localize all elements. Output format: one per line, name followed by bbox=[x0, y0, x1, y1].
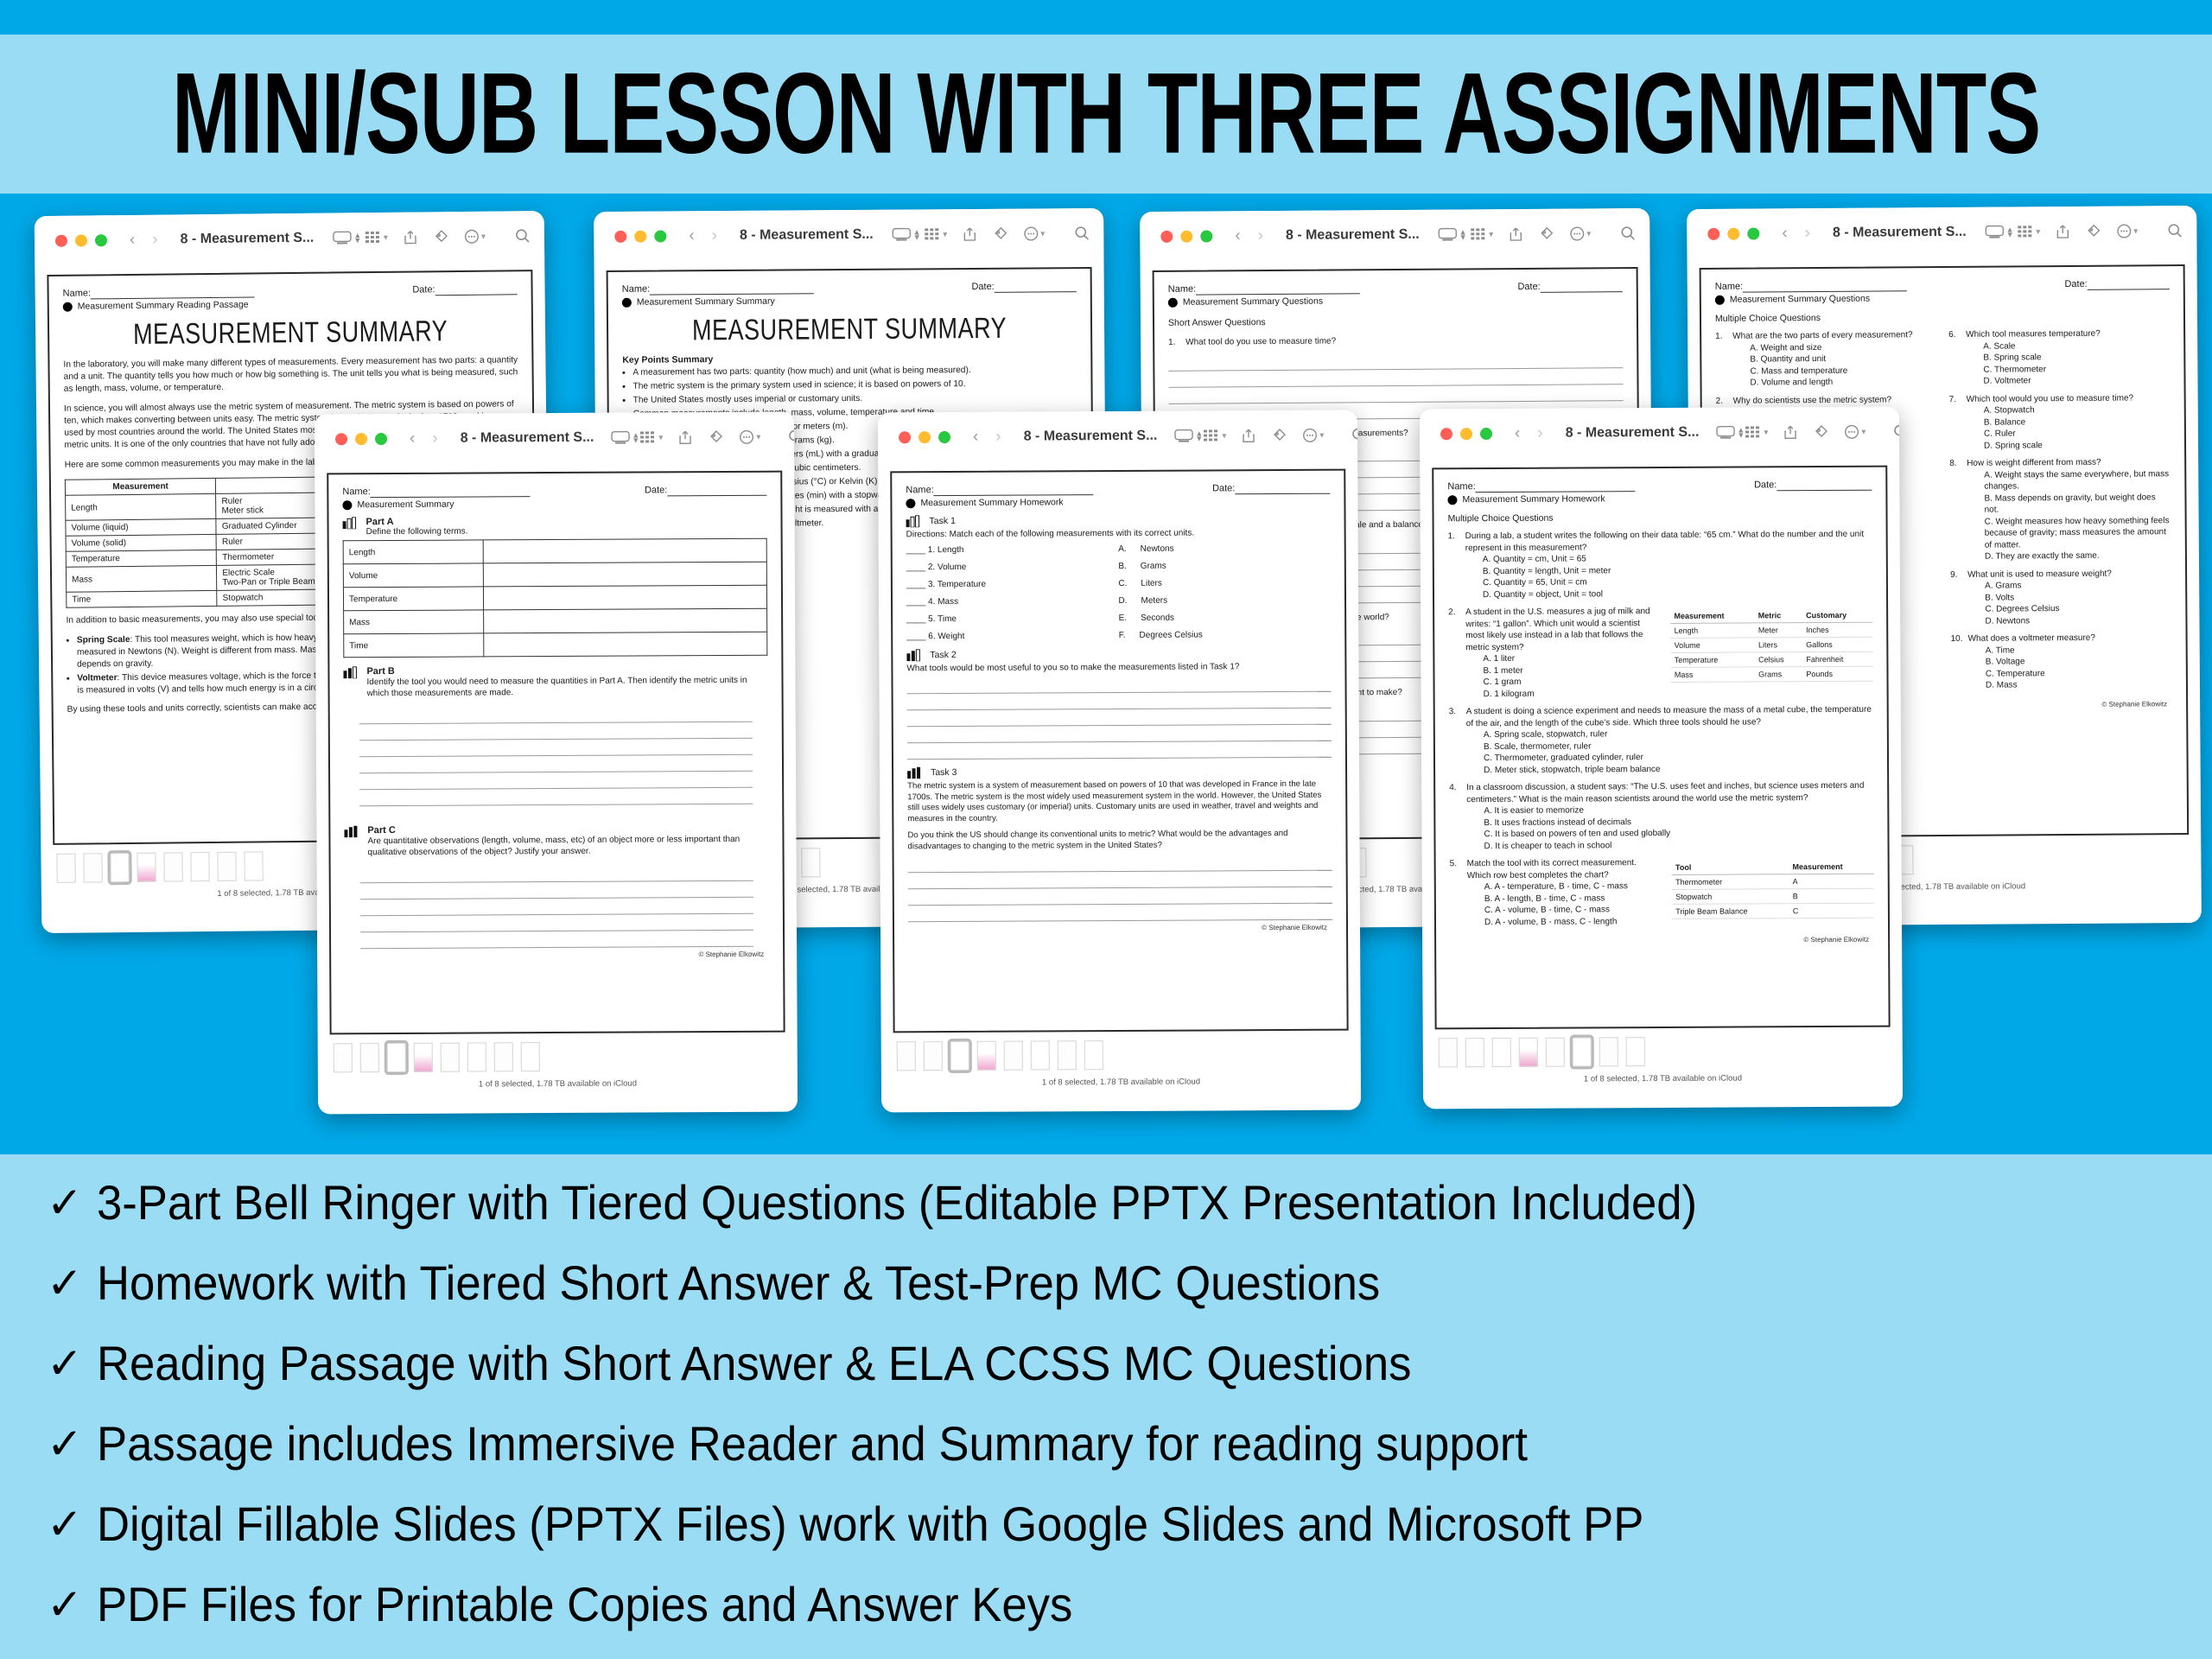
thumbnail[interactable] bbox=[950, 1041, 969, 1071]
nav-buttons[interactable]: ‹ › bbox=[1782, 224, 1810, 243]
bullet-dot-icon bbox=[1715, 295, 1725, 304]
name-field-label: Name: bbox=[1715, 280, 1907, 293]
forward-icon[interactable]: › bbox=[995, 428, 1001, 447]
answer-line[interactable] bbox=[359, 755, 753, 773]
close-icon[interactable] bbox=[614, 231, 626, 243]
table-row: Mass bbox=[344, 608, 767, 634]
question: 9.What unit is used to measure weight?A.… bbox=[1950, 568, 2171, 627]
thumbnail[interactable] bbox=[334, 1043, 353, 1072]
answer-line[interactable] bbox=[907, 725, 1332, 744]
chevron-down-icon[interactable]: ▾ bbox=[943, 230, 947, 239]
name-date-row: Name: Date: bbox=[342, 485, 766, 499]
more-ellipsis-icon[interactable]: ▾ bbox=[2116, 223, 2138, 238]
feature-label: 3-Part Bell Ringer with Tiered Questions… bbox=[97, 1175, 1697, 1230]
display-icon[interactable]: ▲▼ bbox=[1174, 429, 1203, 442]
answer-line[interactable] bbox=[908, 855, 1332, 874]
table-row: LengthMeterInches bbox=[1671, 622, 1873, 638]
chevron-down-icon[interactable]: ▾ bbox=[1764, 428, 1768, 437]
thumbnail[interactable] bbox=[1439, 1038, 1458, 1067]
thumbnail[interactable] bbox=[1004, 1041, 1023, 1071]
answer-line[interactable] bbox=[359, 739, 753, 757]
status-bar: 1 of 8 selected, 1.78 TB available on iC… bbox=[1423, 1067, 1903, 1093]
chevron-down-icon[interactable]: ▾ bbox=[481, 232, 486, 241]
stepper-icon[interactable]: ▲▼ bbox=[632, 432, 639, 442]
nav-buttons[interactable]: ‹ › bbox=[689, 226, 717, 245]
search-icon[interactable] bbox=[515, 228, 531, 244]
thumbnail[interactable] bbox=[1465, 1038, 1484, 1067]
display-icon[interactable]: ▲▼ bbox=[333, 231, 361, 245]
answer-line[interactable] bbox=[360, 914, 753, 932]
date-field-label: Date: bbox=[1517, 281, 1622, 293]
minimize-icon[interactable] bbox=[355, 433, 367, 445]
chevron-down-icon[interactable]: ▾ bbox=[2036, 227, 2040, 237]
window-titlebar[interactable]: ‹ › 8 - Measurement S... ▲▼ ▾ ▾ bbox=[315, 412, 794, 465]
question: 3. A student is doing a science experime… bbox=[1449, 704, 1873, 777]
search-icon[interactable] bbox=[1074, 226, 1090, 241]
part-c-block: Part C Are quantitative observations (le… bbox=[344, 823, 768, 859]
answer-line[interactable] bbox=[907, 741, 1332, 760]
bar-chart-icon bbox=[343, 666, 358, 678]
paragraph: In the laboratory, you will make many di… bbox=[63, 354, 518, 396]
name-field-label: Name: bbox=[342, 486, 530, 498]
headline-banner: MINI/SUB LESSON WITH THREE ASSIGNMENTS bbox=[0, 35, 2212, 194]
forward-icon[interactable]: › bbox=[712, 226, 717, 245]
forward-icon[interactable]: › bbox=[152, 231, 158, 250]
grid-view-icon[interactable]: ▾ bbox=[1470, 227, 1493, 241]
thumbnail[interactable] bbox=[163, 852, 182, 881]
thumbnail[interactable] bbox=[441, 1043, 460, 1072]
worksheet-title: MEASUREMENT SUMMARY bbox=[622, 311, 1077, 347]
back-icon[interactable]: ‹ bbox=[973, 428, 978, 447]
thumbnail-strip[interactable] bbox=[881, 1031, 1361, 1073]
grid-view-icon[interactable]: ▾ bbox=[2017, 225, 2040, 238]
thumbnail[interactable] bbox=[1519, 1038, 1538, 1067]
question: 6.Which tool measures temperature?A. Sca… bbox=[1948, 327, 2170, 387]
question: 7.Which tool would you use to measure ti… bbox=[1949, 392, 2171, 452]
bar-chart-icon bbox=[907, 766, 922, 779]
match-row: ____ 3. TemperatureC.Liters bbox=[906, 578, 1331, 590]
tag-icon[interactable] bbox=[992, 226, 1007, 242]
part-label: Part A bbox=[366, 517, 468, 528]
worksheet-page: Name: Date: Measurement Summary Part A D… bbox=[327, 471, 785, 1035]
answer-line[interactable] bbox=[360, 865, 753, 883]
feature-label: Homework with Tiered Short Answer & Test… bbox=[97, 1255, 1380, 1311]
chevron-down-icon[interactable]: ▾ bbox=[2133, 226, 2138, 236]
document-preview: Name: Date: Measurement Summary Homework… bbox=[878, 461, 1360, 1033]
window-title: 8 - Measurement S... bbox=[181, 231, 315, 248]
window-titlebar[interactable]: ‹ › 8 - Measurement S... ▲▼ ▾ ▾ bbox=[878, 410, 1357, 463]
thumbnail[interactable] bbox=[1573, 1037, 1592, 1066]
section-heading: Short Answer Questions bbox=[1168, 315, 1623, 328]
traffic-lights[interactable] bbox=[1707, 227, 1759, 239]
back-icon[interactable]: ‹ bbox=[130, 231, 136, 250]
answer-line[interactable] bbox=[908, 887, 1332, 906]
thumbnail[interactable] bbox=[414, 1043, 433, 1072]
forward-icon[interactable]: › bbox=[1258, 226, 1263, 245]
tag-icon[interactable] bbox=[433, 229, 448, 245]
close-icon[interactable] bbox=[335, 433, 347, 445]
grid-view-icon[interactable]: ▾ bbox=[1203, 429, 1226, 442]
traffic-lights[interactable] bbox=[899, 431, 950, 443]
thumbnail[interactable] bbox=[977, 1041, 996, 1071]
tag-icon[interactable] bbox=[708, 429, 723, 445]
question: 10.What does a voltmeter measure?A. Time… bbox=[1951, 632, 2172, 691]
share-icon[interactable] bbox=[1509, 226, 1522, 242]
chevron-down-icon[interactable]: ▾ bbox=[1222, 431, 1226, 441]
window-title: 8 - Measurement S... bbox=[461, 430, 594, 447]
question: 1. During a lab, a student writes the fo… bbox=[1448, 529, 1872, 601]
more-ellipsis-icon[interactable]: ▾ bbox=[1844, 424, 1866, 440]
doc-subtitle: Measurement Summary Questions bbox=[1168, 294, 1623, 308]
answer-line[interactable] bbox=[360, 898, 753, 916]
feature-label: Passage includes Immersive Reader and Su… bbox=[97, 1416, 1528, 1471]
bar-chart-icon bbox=[344, 825, 359, 837]
name-field-label: Name: bbox=[63, 286, 256, 299]
thumbnail[interactable] bbox=[110, 853, 129, 882]
window-titlebar[interactable]: ‹ › 8 - Measurement S... ▲▼ ▾ ▾ bbox=[35, 211, 545, 266]
zoom-icon[interactable] bbox=[1200, 230, 1212, 242]
forward-icon[interactable]: › bbox=[1805, 224, 1810, 243]
back-icon[interactable]: ‹ bbox=[1782, 224, 1787, 243]
more-ellipsis-icon[interactable]: ▾ bbox=[464, 229, 486, 245]
display-icon[interactable]: ▲▼ bbox=[893, 227, 921, 241]
question: 1.What are the two parts of every measur… bbox=[1715, 329, 1936, 389]
window-title: 8 - Measurement S... bbox=[1286, 227, 1420, 244]
thumbnail[interactable] bbox=[137, 853, 156, 882]
thumbnail[interactable] bbox=[1599, 1037, 1618, 1066]
traffic-lights[interactable] bbox=[1440, 428, 1492, 440]
share-icon[interactable] bbox=[1783, 424, 1797, 440]
minimize-icon[interactable] bbox=[75, 234, 87, 246]
date-field-label: Date: bbox=[1754, 480, 1872, 492]
chevron-down-icon[interactable]: ▾ bbox=[1489, 230, 1493, 239]
nav-buttons[interactable]: ‹ › bbox=[410, 429, 438, 448]
name-field-label: Name: bbox=[1447, 480, 1635, 493]
copyright-notice: © Stephanie Elkowitz bbox=[908, 924, 1332, 934]
name-field-label: Name: bbox=[1168, 283, 1360, 296]
grid-view-icon[interactable]: ▾ bbox=[924, 227, 947, 241]
thumbnail[interactable] bbox=[897, 1041, 916, 1071]
finder-window-bell-ringer[interactable]: ‹ › 8 - Measurement S... ▲▼ ▾ ▾ bbox=[315, 412, 798, 1115]
forward-icon[interactable]: › bbox=[432, 429, 437, 448]
traffic-lights[interactable] bbox=[335, 433, 387, 445]
traffic-lights[interactable] bbox=[1160, 230, 1212, 242]
question-with-table: 5. Match the tool with its correct measu… bbox=[1450, 856, 1874, 935]
thumbnail[interactable] bbox=[1546, 1038, 1565, 1067]
answer-line[interactable] bbox=[359, 722, 753, 741]
more-ellipsis-icon[interactable]: ▾ bbox=[739, 429, 760, 445]
grid-view-icon[interactable]: ▾ bbox=[639, 430, 663, 444]
bullet-dot-icon bbox=[1168, 297, 1178, 307]
thumbnail[interactable] bbox=[56, 854, 75, 883]
doc-subtitle: Measurement Summary Homework bbox=[1447, 493, 1872, 505]
part-b-block: Part B Identify the tool you would need … bbox=[343, 664, 767, 700]
share-icon[interactable] bbox=[1242, 428, 1255, 443]
list-item: A measurement has two parts: quantity (h… bbox=[632, 364, 1077, 379]
stepper-icon[interactable]: ▲▼ bbox=[1195, 430, 1203, 441]
zoom-icon[interactable] bbox=[1480, 428, 1492, 440]
share-icon[interactable] bbox=[678, 429, 692, 445]
thumbnail[interactable] bbox=[190, 852, 209, 881]
answer-line[interactable] bbox=[907, 709, 1332, 728]
answer-line[interactable] bbox=[360, 881, 753, 899]
zoom-icon[interactable] bbox=[95, 234, 107, 246]
display-icon[interactable]: ▲▼ bbox=[611, 430, 639, 444]
grid-view-icon[interactable]: ▾ bbox=[365, 231, 388, 245]
window-titlebar[interactable]: ‹ › 8 - Measurement S... ▲▼ ▾ ▾ bbox=[1140, 208, 1649, 262]
zoom-icon[interactable] bbox=[1747, 227, 1759, 239]
share-icon[interactable] bbox=[2056, 224, 2069, 239]
check-icon: ✓ bbox=[35, 1416, 97, 1471]
answer-line[interactable] bbox=[359, 772, 753, 790]
bar-chart-icon bbox=[906, 515, 921, 527]
bullet-dot-icon bbox=[622, 297, 632, 307]
table-row: Volume bbox=[343, 562, 766, 588]
traffic-lights[interactable] bbox=[55, 234, 107, 247]
zoom-icon[interactable] bbox=[375, 433, 387, 445]
top-accent-band bbox=[0, 0, 2212, 35]
metric-customary-table: MeasurementMetricCustomary LengthMeterIn… bbox=[1670, 608, 1872, 683]
section-heading: Key Points Summary bbox=[622, 352, 1077, 365]
nav-buttons[interactable]: ‹ › bbox=[130, 231, 158, 250]
answer-line[interactable] bbox=[359, 788, 753, 806]
tag-icon[interactable] bbox=[1813, 424, 1828, 440]
copyright-notice: © Stephanie Elkowitz bbox=[345, 950, 769, 961]
thumbnail[interactable] bbox=[1031, 1040, 1050, 1070]
thumbnail[interactable] bbox=[244, 851, 263, 880]
window-title: 8 - Measurement S... bbox=[740, 227, 874, 244]
bullet-dot-icon bbox=[63, 302, 73, 311]
chevron-down-icon[interactable]: ▾ bbox=[384, 232, 388, 242]
stepper-icon[interactable]: ▲▼ bbox=[2006, 226, 2014, 237]
document-preview: Name: Date: Measurement Summary Homework… bbox=[1420, 457, 1902, 1030]
question: 5. Match the tool with its correct measu… bbox=[1450, 857, 1662, 928]
tag-icon[interactable] bbox=[2085, 224, 2101, 239]
thumbnail[interactable] bbox=[83, 853, 102, 882]
window-title: 8 - Measurement S... bbox=[1024, 429, 1158, 445]
list-item: The United States mostly uses imperial o… bbox=[633, 391, 1077, 407]
feature-label: Digital Fillable Slides (PPTX Files) wor… bbox=[97, 1497, 1643, 1552]
doc-subtitle: Measurement Summary Questions bbox=[1715, 291, 2170, 305]
display-icon[interactable]: ▲▼ bbox=[1439, 227, 1467, 241]
stepper-icon[interactable]: ▲▼ bbox=[1737, 427, 1745, 437]
date-field-label: Date: bbox=[412, 283, 517, 296]
thumbnail[interactable] bbox=[924, 1041, 943, 1071]
task3-header: Task 3 bbox=[907, 765, 1332, 779]
section-heading: Multiple Choice Questions bbox=[1448, 512, 1872, 524]
window-title: 8 - Measurement S... bbox=[1833, 225, 1967, 241]
feature-list: ✓ 3-Part Bell Ringer with Tiered Questio… bbox=[35, 1175, 2195, 1657]
task-prompt: Do you think the US should change its co… bbox=[907, 829, 1332, 853]
thumbnail[interactable] bbox=[801, 848, 820, 877]
name-date-row: Name: Date: bbox=[622, 281, 1077, 296]
back-icon[interactable]: ‹ bbox=[410, 429, 415, 448]
toolbar-icons[interactable]: ▾ ▾ bbox=[924, 226, 1090, 242]
thumbnail[interactable] bbox=[1084, 1040, 1103, 1070]
thumbnail-strip[interactable] bbox=[318, 1033, 798, 1075]
list-item: ✓ PDF Files for Printable Copies and Ans… bbox=[35, 1577, 2195, 1657]
thumbnail[interactable] bbox=[521, 1042, 540, 1071]
zoom-icon[interactable] bbox=[938, 431, 950, 443]
match-row: ____ 6. WeightF.Degrees Celsius bbox=[906, 630, 1331, 642]
thumbnail[interactable] bbox=[467, 1042, 486, 1071]
list-item: ✓ 3-Part Bell Ringer with Tiered Questio… bbox=[35, 1175, 2195, 1255]
chevron-down-icon[interactable]: ▾ bbox=[756, 432, 760, 442]
date-field-label: Date: bbox=[971, 281, 1076, 293]
chevron-down-icon[interactable]: ▾ bbox=[1040, 229, 1045, 238]
status-bar: 1 of 8 selected, 1.78 TB available on iC… bbox=[881, 1071, 1361, 1096]
display-icon[interactable]: ▲▼ bbox=[1986, 225, 2014, 238]
back-icon[interactable]: ‹ bbox=[1515, 424, 1520, 443]
bullet-dot-icon bbox=[342, 500, 352, 510]
table-row: MassGramsPounds bbox=[1671, 666, 1873, 682]
section-heading: Multiple Choice Questions bbox=[1715, 310, 2170, 324]
definitions-table[interactable]: Length Volume Temperature Mass Time bbox=[343, 538, 768, 658]
table-row: StopwatchB bbox=[1672, 888, 1874, 904]
minimize-icon[interactable] bbox=[1727, 228, 1739, 240]
match-row: ____ 1. LengthA.Newtons bbox=[906, 543, 1331, 556]
nav-buttons[interactable]: ‹ › bbox=[973, 428, 1001, 447]
thumbnail-strip[interactable] bbox=[1423, 1027, 1903, 1070]
answer-line[interactable] bbox=[359, 706, 753, 724]
share-icon[interactable] bbox=[404, 229, 417, 245]
table-row: Time bbox=[344, 632, 767, 658]
toolbar-icons[interactable]: ▾ ▾ bbox=[639, 429, 798, 445]
window-titlebar[interactable]: ‹ › 8 - Measurement S... ▲▼ ▾ ▾ bbox=[594, 208, 1103, 262]
share-icon[interactable] bbox=[963, 226, 976, 242]
match-row: ____ 5. TimeE.Seconds bbox=[906, 613, 1331, 625]
table-row: Length bbox=[343, 538, 766, 564]
minimize-icon[interactable] bbox=[1180, 231, 1192, 243]
toolbar-icons[interactable]: ▾ ▾ bbox=[1203, 427, 1361, 443]
part-instruction: Define the following terms. bbox=[366, 527, 468, 537]
display-icon[interactable]: ▲▼ bbox=[1716, 425, 1745, 439]
back-icon[interactable]: ‹ bbox=[1235, 226, 1240, 245]
list-item: ✓ Reading Passage with Short Answer & EL… bbox=[35, 1336, 2195, 1416]
nav-buttons[interactable]: ‹ › bbox=[1515, 424, 1543, 443]
tag-icon[interactable] bbox=[1538, 226, 1554, 242]
nav-buttons[interactable]: ‹ › bbox=[1235, 226, 1263, 245]
list-item: ✓ Digital Fillable Slides (PPTX Files) w… bbox=[35, 1497, 2195, 1577]
doc-subtitle: Measurement Summary Summary bbox=[622, 294, 1077, 308]
task-label: Task 2 bbox=[930, 650, 956, 660]
check-icon: ✓ bbox=[35, 1497, 97, 1552]
table-row: Triple Beam BalanceC bbox=[1672, 903, 1874, 918]
search-icon[interactable] bbox=[2167, 223, 2183, 238]
thumbnail[interactable] bbox=[387, 1043, 406, 1072]
toolbar-icons[interactable]: ▾ ▾ bbox=[1470, 226, 1636, 242]
worksheet-page: Name: Date: Measurement Summary Homework… bbox=[1432, 466, 1890, 1030]
toolbar-icons[interactable]: ▾ ▾ bbox=[1745, 423, 1903, 440]
task-label: Task 3 bbox=[931, 767, 957, 778]
list-item: The metric system is the primary system … bbox=[632, 378, 1077, 393]
stepper-icon[interactable]: ▲▼ bbox=[1459, 229, 1467, 239]
minimize-icon[interactable] bbox=[918, 431, 931, 443]
stepper-icon[interactable]: ▲▼ bbox=[353, 232, 361, 243]
answer-line[interactable] bbox=[908, 904, 1332, 923]
thumbnail[interactable] bbox=[1626, 1037, 1645, 1066]
name-date-row: Name: Date: bbox=[906, 483, 1330, 497]
chevron-down-icon[interactable]: ▾ bbox=[658, 433, 663, 442]
task-label: Task 1 bbox=[930, 516, 956, 526]
more-ellipsis-icon[interactable]: ▾ bbox=[1302, 428, 1324, 443]
task-passage: The metric system is a system of measure… bbox=[907, 779, 1332, 825]
name-date-row: Name: Date: bbox=[1447, 480, 1872, 493]
mc-column-right: 6.Which tool measures temperature?A. Sca… bbox=[1948, 327, 2172, 697]
toolbar-icons[interactable]: ▾ ▾ bbox=[365, 228, 531, 245]
finder-window-homework-mc[interactable]: ‹ › 8 - Measurement S... ▲▼ ▾ ▾ bbox=[1420, 407, 1903, 1109]
zoom-icon[interactable] bbox=[654, 230, 666, 242]
answer-line[interactable] bbox=[360, 931, 753, 949]
thumbnail[interactable] bbox=[1058, 1040, 1077, 1070]
finder-window-homework-tasks[interactable]: ‹ › 8 - Measurement S... ▲▼ ▾ ▾ bbox=[878, 410, 1361, 1113]
tag-icon[interactable] bbox=[1271, 428, 1287, 443]
toolbar-icons[interactable]: ▾ ▾ bbox=[2017, 223, 2183, 239]
window-titlebar[interactable]: ‹ › 8 - Measurement S... ▲▼ ▾ ▾ bbox=[1420, 407, 1899, 460]
name-date-row: Name: Date: bbox=[1168, 281, 1623, 296]
answer-line[interactable] bbox=[908, 871, 1332, 890]
task2-header: Task 2 bbox=[906, 647, 1331, 662]
grid-view-icon[interactable]: ▾ bbox=[1745, 425, 1768, 439]
stepper-icon[interactable]: ▲▼ bbox=[913, 229, 921, 239]
check-icon: ✓ bbox=[35, 1336, 97, 1391]
close-icon[interactable] bbox=[1707, 228, 1719, 240]
chevron-down-icon[interactable]: ▾ bbox=[1586, 229, 1591, 238]
close-icon[interactable] bbox=[1160, 231, 1173, 243]
minimize-icon[interactable] bbox=[1460, 428, 1472, 440]
doc-subtitle: Measurement Summary bbox=[342, 498, 766, 511]
column-header: Measurement bbox=[65, 478, 216, 495]
question: 8.How is weight different from mass?A. W… bbox=[1949, 456, 2171, 563]
task1-header: Task 1 bbox=[906, 513, 1331, 528]
list-item: ✓ Homework with Tiered Short Answer & Te… bbox=[35, 1255, 2195, 1336]
list-item: ✓ Passage includes Immersive Reader and … bbox=[35, 1416, 2195, 1497]
back-icon[interactable]: ‹ bbox=[689, 226, 694, 245]
thumbnail[interactable] bbox=[1492, 1038, 1511, 1067]
part-instruction: Identify the tool you would need to meas… bbox=[366, 675, 767, 699]
answer-line[interactable] bbox=[907, 692, 1332, 711]
worksheet-title: MEASUREMENT SUMMARY bbox=[63, 314, 518, 352]
more-ellipsis-icon[interactable]: ▾ bbox=[1023, 226, 1045, 241]
document-preview: Name: Date: Measurement Summary Part A D… bbox=[315, 462, 797, 1035]
thumbnail[interactable] bbox=[217, 852, 236, 881]
close-icon[interactable] bbox=[55, 235, 67, 247]
close-icon[interactable] bbox=[1440, 428, 1452, 440]
traffic-lights[interactable] bbox=[614, 230, 666, 242]
thumbnail[interactable] bbox=[494, 1042, 513, 1071]
copyright-notice: © Stephanie Elkowitz bbox=[1450, 936, 1874, 946]
chevron-down-icon[interactable]: ▾ bbox=[1861, 427, 1866, 436]
date-field-label: Date: bbox=[2064, 278, 2169, 290]
minimize-icon[interactable] bbox=[634, 231, 646, 243]
close-icon[interactable] bbox=[899, 431, 911, 443]
bar-chart-icon bbox=[343, 517, 358, 529]
chevron-down-icon[interactable]: ▾ bbox=[1319, 430, 1324, 440]
window-titlebar[interactable]: ‹ › 8 - Measurement S... ▲▼ ▾ ▾ bbox=[1687, 206, 2196, 259]
search-icon[interactable] bbox=[1620, 226, 1636, 241]
more-ellipsis-icon[interactable]: ▾ bbox=[1569, 226, 1591, 241]
check-icon: ✓ bbox=[35, 1255, 97, 1311]
forward-icon[interactable]: › bbox=[1537, 424, 1542, 443]
answer-line[interactable] bbox=[906, 676, 1331, 695]
question: 2. A student in the U.S. measures a jug … bbox=[1448, 606, 1661, 700]
tool-measurement-table: ToolMeasurement ThermometerA StopwatchB … bbox=[1672, 860, 1874, 919]
thumbnail[interactable] bbox=[360, 1043, 379, 1072]
table-row: VolumeLitersGallons bbox=[1671, 637, 1873, 652]
worksheet-page: Name: Date: Measurement Summary Homework… bbox=[890, 469, 1348, 1033]
match-row: ____ 4. MassD.Meters bbox=[906, 595, 1331, 607]
check-icon: ✓ bbox=[35, 1577, 97, 1632]
